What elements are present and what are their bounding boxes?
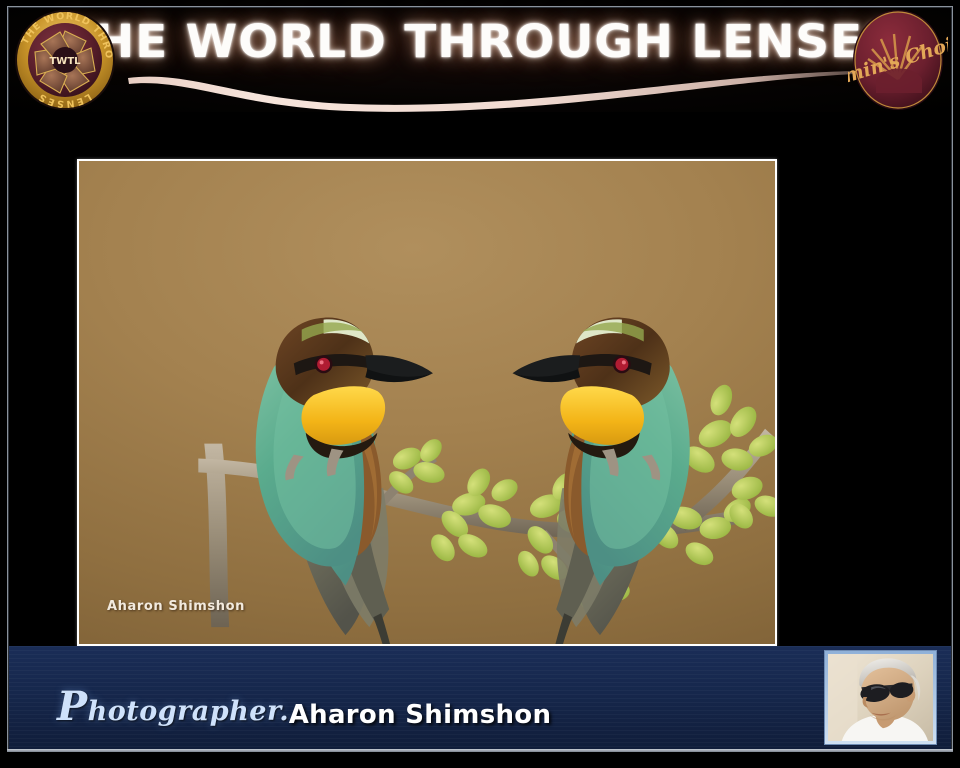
portrait-image bbox=[828, 654, 933, 741]
photographer-name: Aharon Shimshon bbox=[9, 700, 951, 730]
footer-bar: Photographer... Aharon Shimshon bbox=[9, 646, 951, 749]
main-photo: Aharon Shimshon bbox=[77, 159, 777, 646]
svg-text:TWTL: TWTL bbox=[49, 56, 81, 67]
admins-choice-badge-icon: Admin's Choice bbox=[848, 7, 948, 113]
photographer-portrait bbox=[824, 650, 937, 745]
portrait-illustration bbox=[828, 654, 933, 741]
photo-canvas: Aharon Shimshon bbox=[79, 161, 775, 644]
bee-eater-right bbox=[513, 318, 690, 644]
bee-eater-pair-illustration bbox=[79, 161, 775, 644]
slide-bottom-rule bbox=[7, 749, 953, 752]
presentation-slide: THE WORLD THROUGH LENSES bbox=[0, 0, 960, 768]
photo-watermark: Aharon Shimshon bbox=[107, 599, 245, 614]
decorative-swoosh-icon bbox=[120, 62, 860, 114]
twtl-logo-icon: TWTL THE WORLD THROUGH LENSES bbox=[12, 7, 118, 113]
header-banner: THE WORLD THROUGH LENSES bbox=[0, 0, 960, 120]
